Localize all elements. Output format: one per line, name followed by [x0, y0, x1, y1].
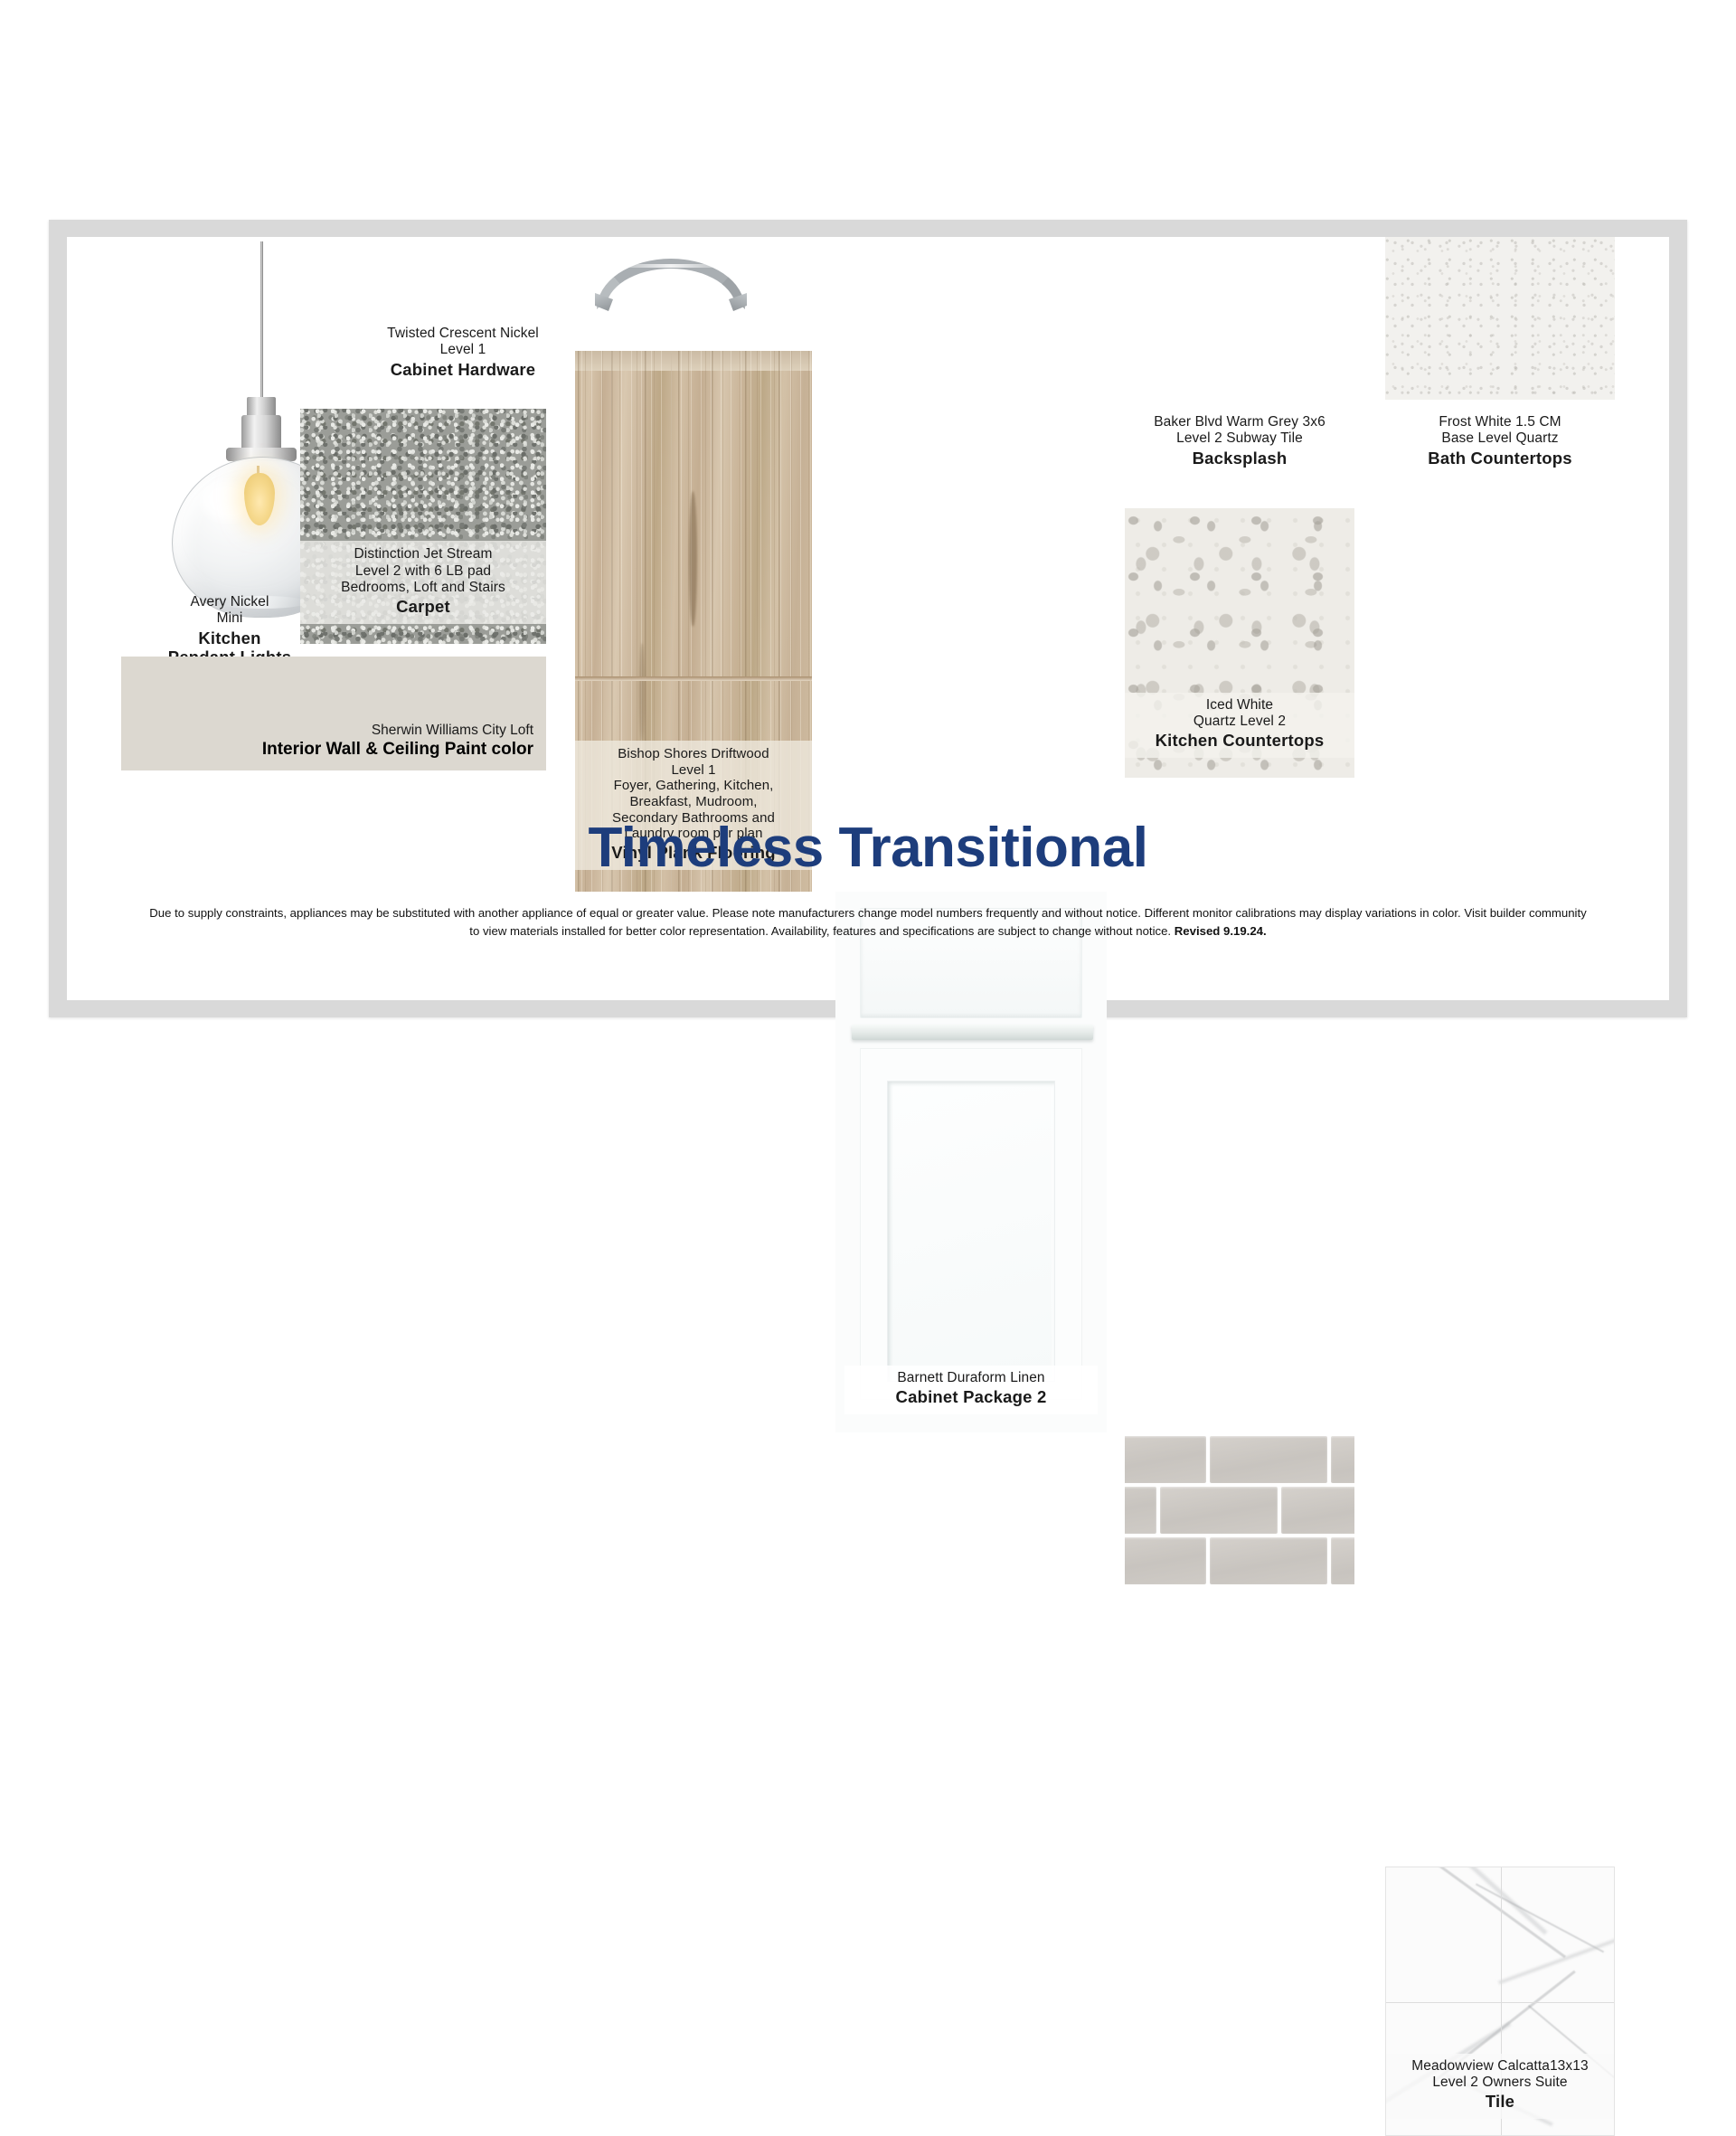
paint-bold: Interior Wall & Ceiling Paint color	[262, 740, 533, 760]
swatch-cabinet-hardware[interactable]: Twisted Crescent Nickel Level 1 Cabinet …	[318, 242, 608, 405]
marble-grout-horizontal	[1386, 2002, 1614, 2003]
paint-caption: Sherwin Williams City Loft Interior Wall…	[262, 723, 533, 760]
board-canvas: Avery Nickel Mini Kitchen Pendant Lights	[67, 237, 1669, 1000]
kitchen-counter-line-1: Iced White	[1128, 697, 1351, 714]
subway-tile	[1331, 1436, 1354, 1483]
backsplash-bold: Backsplash	[1098, 449, 1382, 468]
swatch-bath-countertop[interactable]	[1385, 237, 1615, 400]
swatch-kitchen-countertop[interactable]: Iced White Quartz Level 2 Kitchen Counte…	[1125, 508, 1354, 778]
marble-vein	[1498, 1934, 1615, 1984]
pendant-cord-icon	[260, 241, 263, 400]
tile-line-1: Meadowview Calcatta13x13	[1390, 2058, 1610, 2075]
cabinet-line-1: Barnett Duraform Linen	[848, 1370, 1094, 1386]
swatch-vinyl-plank-flooring[interactable]: Bishop Shores Driftwood Level 1 Foyer, G…	[575, 351, 812, 892]
marble-vein	[1476, 1884, 1604, 1953]
design-board-page: Avery Nickel Mini Kitchen Pendant Lights	[0, 0, 1736, 1302]
backsplash-line-2: Level 2 Subway Tile	[1098, 430, 1382, 447]
disclaimer-text: Due to supply constraints, appliances ma…	[145, 904, 1591, 941]
cabinet-center-panel	[887, 1081, 1054, 1382]
carpet-caption: Distinction Jet Stream Level 2 with 6 LB…	[300, 541, 546, 624]
bath-counter-bold: Bath Countertops	[1358, 449, 1642, 468]
subway-tile	[1125, 1436, 1206, 1483]
paint-line-1: Sherwin Williams City Loft	[372, 723, 533, 738]
disclaimer-line-1: Due to supply constraints, appliances ma…	[149, 906, 1322, 920]
flooring-line-3: Foyer, Gathering, Kitchen,	[580, 778, 807, 794]
subway-tile	[1210, 1537, 1327, 1584]
backsplash-line-1: Baker Blvd Warm Grey 3x6	[1098, 414, 1382, 430]
plank-knot-1	[689, 491, 697, 627]
subway-tile	[1125, 1537, 1206, 1584]
subway-tile	[1210, 1436, 1327, 1483]
hardware-line-2: Level 1	[318, 342, 608, 358]
cabinet-door	[860, 1048, 1082, 1400]
plank-seam	[575, 676, 812, 681]
swatch-cabinet-package[interactable]: Barnett Duraform Linen Cabinet Package 2	[835, 892, 1107, 1432]
cabinet-bold: Cabinet Package 2	[848, 1387, 1094, 1407]
hardware-bold: Cabinet Hardware	[318, 360, 608, 380]
hardware-line-1: Twisted Crescent Nickel	[318, 326, 608, 342]
cabinet-rail	[852, 1025, 1093, 1040]
pendant-socket-lower	[241, 415, 281, 451]
swatch-grid: Avery Nickel Mini Kitchen Pendant Lights	[67, 237, 1669, 816]
flooring-line-4: Breakfast, Mudroom,	[580, 794, 807, 810]
flooring-line-1: Bishop Shores Driftwood	[580, 746, 807, 762]
swatch-paint-color[interactable]: Sherwin Williams City Loft Interior Wall…	[121, 657, 546, 770]
swatch-backsplash-tile[interactable]	[1125, 1432, 1354, 1595]
carpet-line-2: Level 2 with 6 LB pad	[304, 563, 542, 580]
subway-tile	[1160, 1487, 1278, 1534]
tile-caption: Meadowview Calcatta13x13 Level 2 Owners …	[1386, 2054, 1614, 2119]
board-frame: Avery Nickel Mini Kitchen Pendant Lights	[49, 220, 1687, 1017]
backsplash-caption: Baker Blvd Warm Grey 3x6 Level 2 Subway …	[1098, 414, 1382, 468]
pendant-socket-upper	[247, 397, 276, 417]
tile-line-2: Level 2 Owners Suite	[1390, 2075, 1610, 2091]
swatch-owners-suite-tile[interactable]: Meadowview Calcatta13x13 Level 2 Owners …	[1385, 1867, 1615, 2136]
carpet-bold: Carpet	[304, 597, 542, 617]
carpet-line-3: Bedrooms, Loft and Stairs	[304, 580, 542, 596]
kitchen-counter-caption: Iced White Quartz Level 2 Kitchen Counte…	[1125, 693, 1354, 758]
cabinet-pull-image	[590, 253, 752, 317]
tile-bold: Tile	[1390, 2092, 1610, 2112]
board-title: Timeless Transitional	[67, 816, 1669, 880]
plank-knot-2	[639, 643, 645, 742]
marble-vein	[1396, 1867, 1566, 1958]
carpet-line-1: Distinction Jet Stream	[304, 546, 542, 562]
flooring-line-2: Level 1	[580, 762, 807, 779]
revised-date: Revised 9.19.24.	[1175, 924, 1267, 938]
kitchen-counter-bold: Kitchen Countertops	[1128, 731, 1351, 751]
bath-counter-caption: Frost White 1.5 CM Base Level Quartz Bat…	[1358, 414, 1642, 468]
cabinet-caption: Barnett Duraform Linen Cabinet Package 2	[844, 1366, 1098, 1414]
subway-tile	[1331, 1537, 1354, 1584]
kitchen-counter-line-2: Quartz Level 2	[1128, 714, 1351, 730]
bath-counter-line-2: Base Level Quartz	[1358, 430, 1642, 447]
hardware-caption: Twisted Crescent Nickel Level 1 Cabinet …	[318, 326, 608, 379]
subway-tile	[1125, 1487, 1156, 1534]
pull-arc-icon	[597, 259, 745, 309]
subway-tile	[1281, 1487, 1354, 1534]
swatch-carpet[interactable]: Distinction Jet Stream Level 2 with 6 LB…	[300, 409, 546, 644]
bath-counter-line-1: Frost White 1.5 CM	[1358, 414, 1642, 430]
